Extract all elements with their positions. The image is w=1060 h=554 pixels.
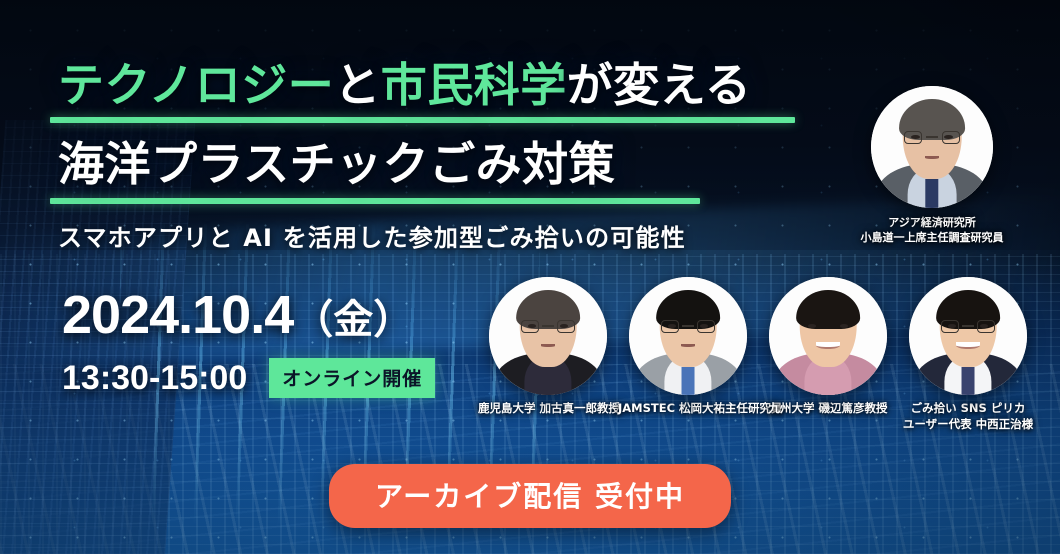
speaker-3: 九州大学 磯辺篤彦教授 [758,277,898,417]
title-line-1-part-2: と [334,58,381,112]
speaker-lead-affiliation: アジア経済研究所 [842,216,1022,231]
speaker-4-line-2: ユーザー代表 中西正治様 [898,417,1038,433]
speaker-1: 鹿児島大学 加古真一郎教授 [478,277,618,417]
event-day-of-week: （金） [293,298,413,342]
event-time: 13:30-15:00 [62,361,247,395]
avatar-speaker-2 [629,277,747,395]
portrait-speaker-4 [909,277,1027,395]
event-date: 2024.10.4（金） [62,288,435,342]
portrait-speaker-1 [489,277,607,395]
webinar-banner: テクノロジーと市民科学が変える 海洋プラスチックごみ対策 スマホアプリと AI … [0,0,1060,554]
portrait-lead [871,86,993,208]
portrait-speaker-2 [629,277,747,395]
title-block: テクノロジーと市民科学が変える 海洋プラスチックごみ対策 [50,62,810,204]
portrait-speaker-3 [769,277,887,395]
speaker-4-caption: ごみ拾い SNS ピリカ ユーザー代表 中西正治様 [898,401,1038,432]
speaker-1-line-1: 鹿児島大学 加古真一郎教授 [478,401,618,417]
speaker-3-caption: 九州大学 磯辺篤彦教授 [758,401,898,417]
avatar-speaker-3 [769,277,887,395]
title-line-1: テクノロジーと市民科学が変える [50,62,810,108]
avatar-speaker-1 [489,277,607,395]
avatar-lead [871,86,993,208]
schedule-block: 2024.10.4（金） 13:30-15:00 オンライン開催 [62,288,435,398]
title-line-2: 海洋プラスチックごみ対策 [50,141,810,187]
speaker-3-line-1: 九州大学 磯辺篤彦教授 [758,401,898,417]
speaker-2-line-1: JAMSTEC 松岡大祐主任研究員 [618,401,758,417]
speaker-4: ごみ拾い SNS ピリカ ユーザー代表 中西正治様 [898,277,1038,432]
time-and-format-row: 13:30-15:00 オンライン開催 [62,358,435,398]
title-line-1-part-1: テクノロジー [58,58,334,112]
title-underline-2 [50,198,700,204]
speaker-lead-caption: アジア経済研究所 小島道一上席主任調査研究員 [842,216,1022,246]
title-line-1-part-4: が変える [567,58,752,112]
speaker-2-caption: JAMSTEC 松岡大祐主任研究員 [618,401,758,417]
title-underline-1 [50,117,795,123]
status-badge-online: オンライン開催 [269,358,435,398]
speaker-lead: アジア経済研究所 小島道一上席主任調査研究員 [842,86,1022,246]
archive-signup-button[interactable]: アーカイブ配信 受付中 [329,464,731,528]
speaker-4-line-1: ごみ拾い SNS ピリカ [898,401,1038,417]
speaker-2: JAMSTEC 松岡大祐主任研究員 [618,277,758,417]
avatar-speaker-4 [909,277,1027,395]
subtitle: スマホアプリと AI を活用した参加型ごみ拾いの可能性 [58,218,686,253]
event-date-value: 2024.10.4 [62,285,293,345]
speaker-1-caption: 鹿児島大学 加古真一郎教授 [478,401,618,417]
speaker-lead-name: 小島道一上席主任調査研究員 [842,231,1022,246]
title-line-1-part-3: 市民科学 [381,58,567,112]
